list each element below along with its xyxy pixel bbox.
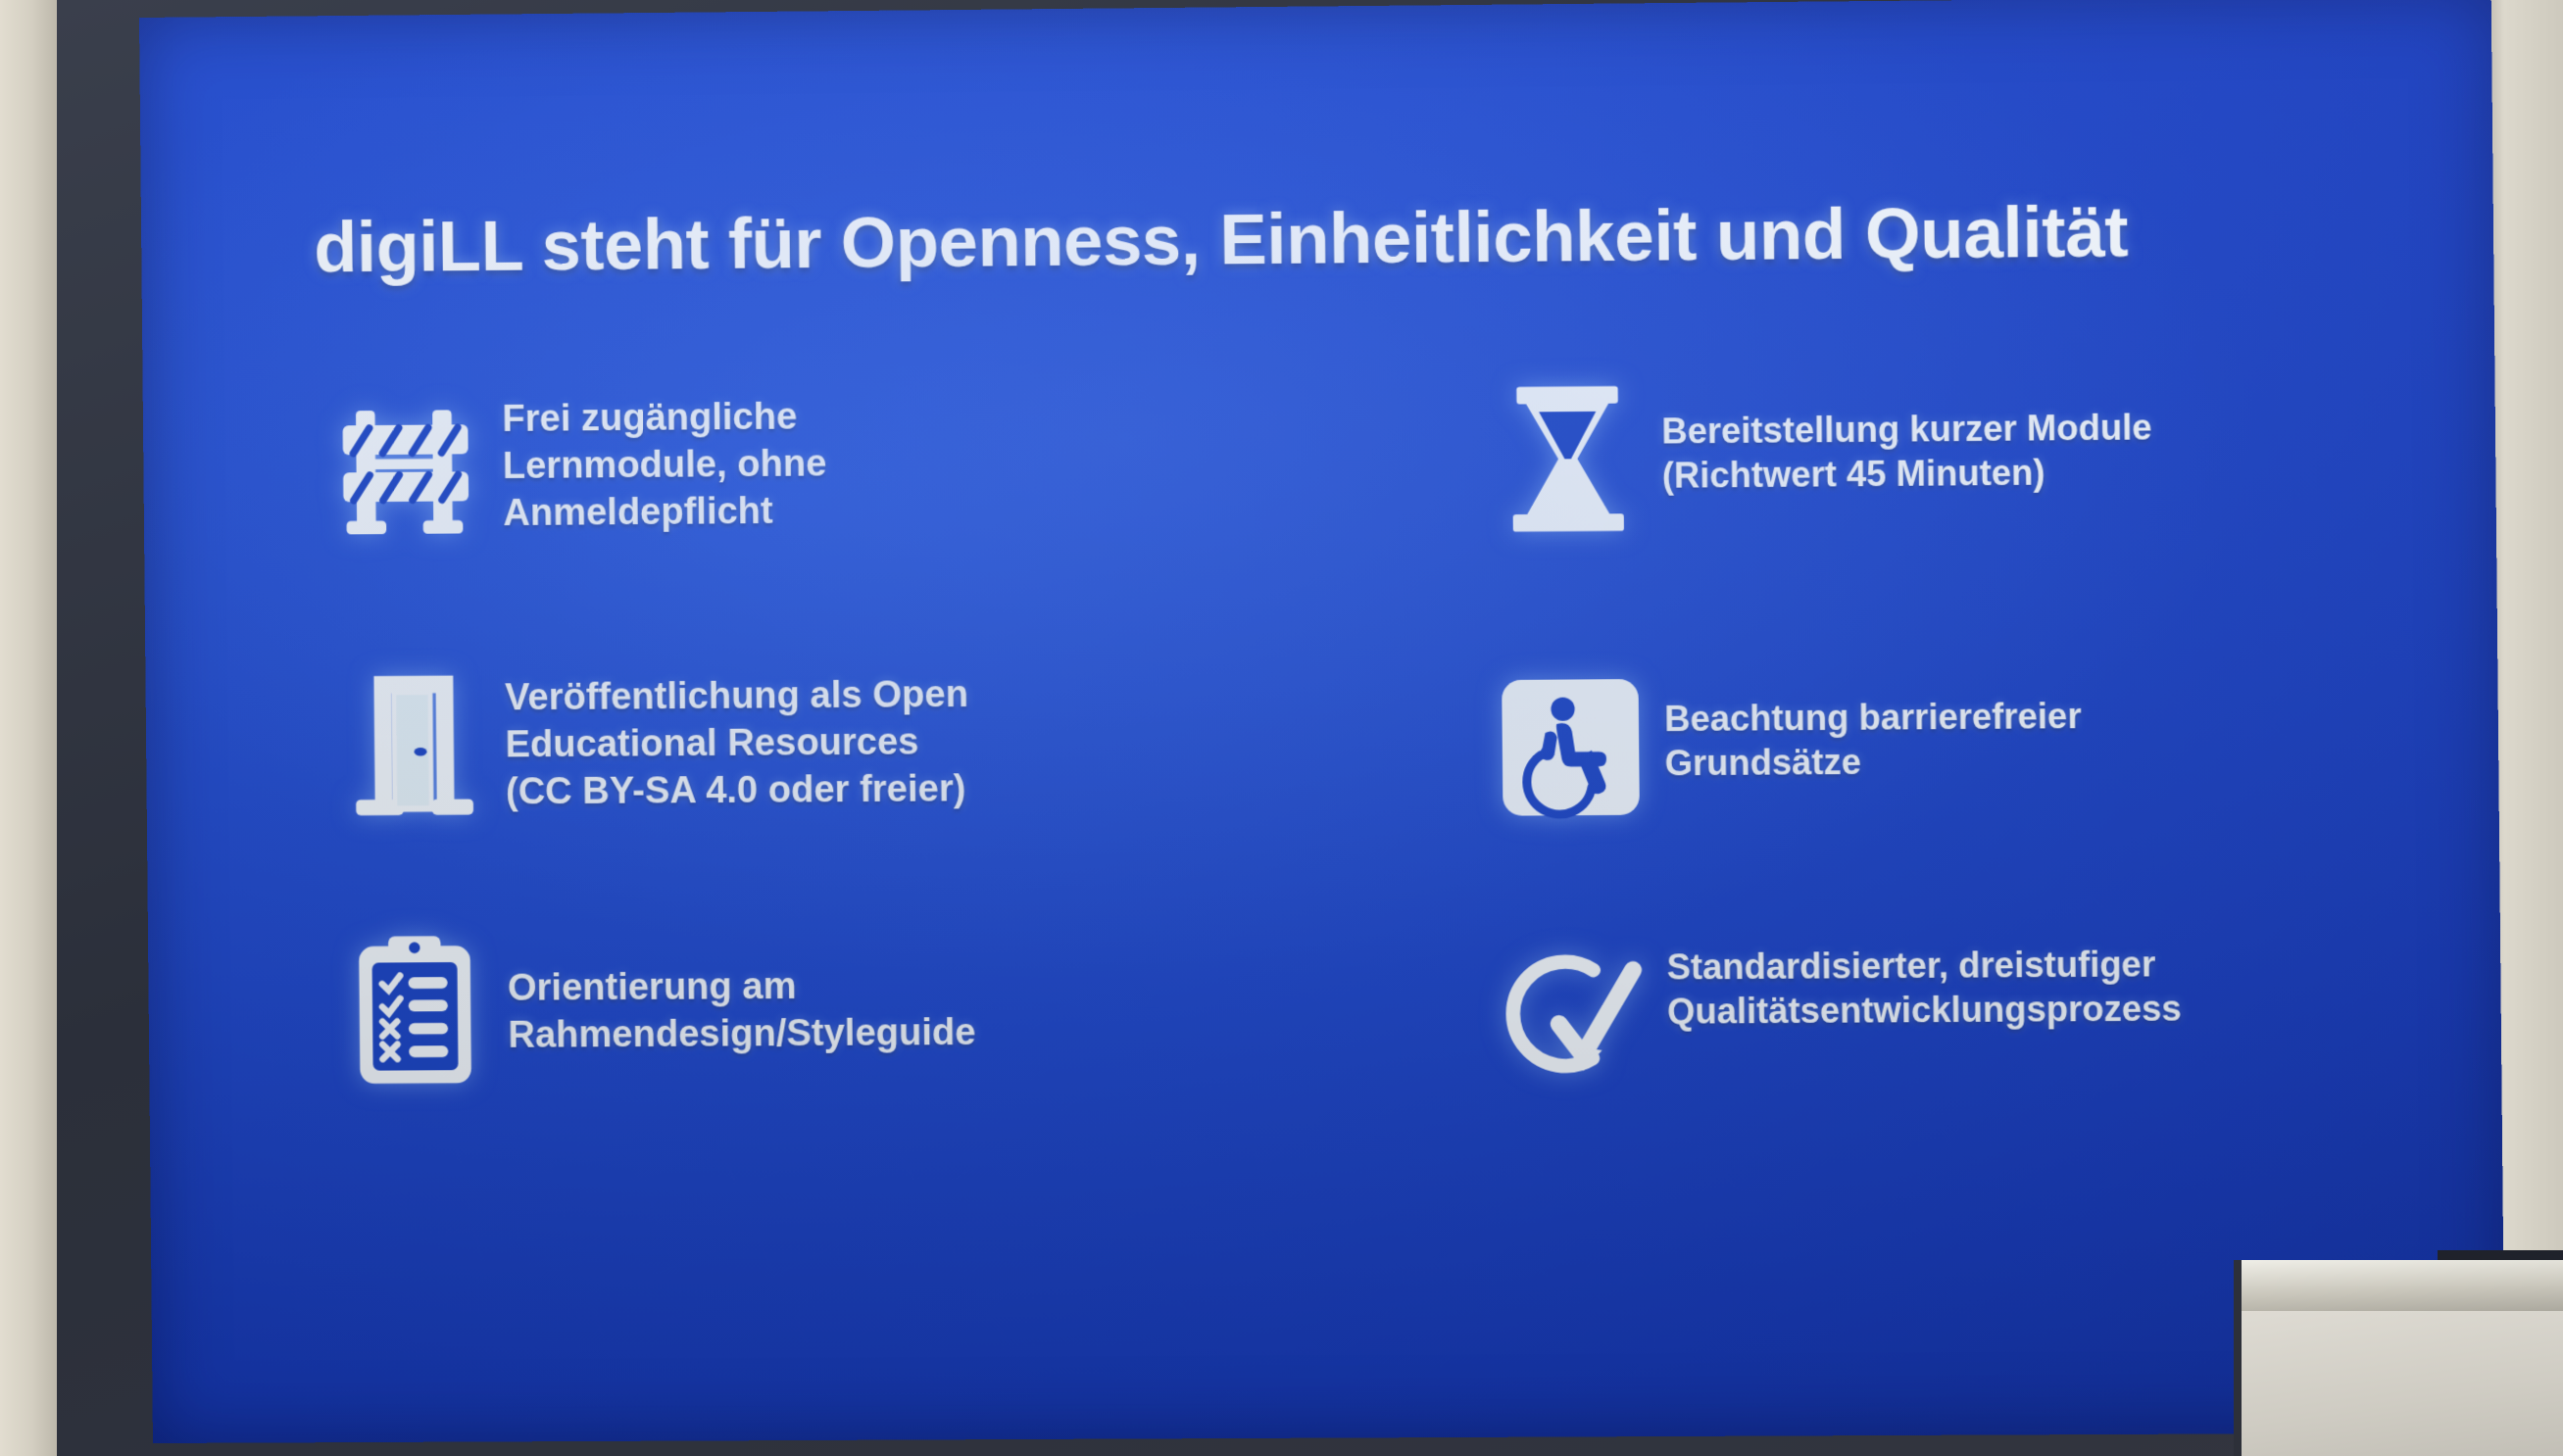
feature-line: Anmeldepflicht — [503, 488, 827, 538]
open-door-icon — [318, 659, 506, 838]
flipchart-top-rail — [2242, 1260, 2563, 1315]
feature-text: Veröffentlichung als Open Educational Re… — [505, 656, 969, 816]
feature-item: Veröffentlichung als Open Educational Re… — [318, 654, 1350, 928]
feature-text: Bereitstellung kurzer Module (Richtwert … — [1661, 375, 2152, 499]
feature-item: Frei zugängliche Lernmodule, ohne Anmeld… — [316, 382, 1348, 661]
room-background: digiLL steht für Openness, Einheitlichke… — [0, 0, 2563, 1456]
feature-grid: Frei zugängliche Lernmodule, ohne Anmeld… — [316, 373, 2390, 1175]
feature-item: Beachtung barrierefreier Grundsätze — [1347, 646, 2386, 921]
feature-line: Standardisierter, dreistufiger — [1666, 942, 2181, 990]
feature-line: Grundsätze — [1664, 739, 2082, 787]
feature-line: Educational Resources — [505, 719, 968, 769]
feature-line: Frei zugängliche — [502, 394, 826, 444]
wheelchair-accessibility-icon — [1476, 652, 1666, 830]
feature-line: Orientierung am — [508, 963, 976, 1013]
feature-line: Qualitätsentwicklungsprozess — [1667, 987, 2182, 1035]
feature-line: Lernmodule, ohne — [503, 441, 827, 491]
feature-line: Beachtung barrierefreier — [1664, 694, 2082, 742]
wall-left — [0, 0, 57, 1456]
feature-text: Standardisierter, dreistufiger Qualitäts… — [1666, 916, 2182, 1035]
feature-item: Bereitstellung kurzer Module (Richtwert … — [1345, 373, 2384, 654]
feature-text: Frei zugängliche Lernmodule, ohne Anmeld… — [502, 386, 827, 538]
foreground-flipchart — [2234, 1250, 2563, 1456]
clipboard-checklist-icon — [320, 927, 509, 1104]
projection-screen-bezel: digiLL steht für Openness, Einheitlichke… — [57, 0, 2473, 1456]
feature-line: (CC BY-SA 4.0 oder freier) — [506, 766, 969, 816]
feature-item: Orientierung am Rahmendesign/Styleguide — [320, 921, 1353, 1175]
flipchart-face — [2242, 1311, 2563, 1456]
feature-line: Bereitstellung kurzer Module — [1661, 405, 2152, 454]
feature-item: Standardisierter, dreistufiger Qualitäts… — [1350, 914, 2389, 1169]
feature-text: Orientierung am Rahmendesign/Styleguide — [507, 924, 975, 1060]
hourglass-icon — [1473, 379, 1663, 558]
road-barrier-icon — [316, 389, 504, 567]
feature-line: Veröffentlichung als Open — [505, 672, 968, 722]
cycle-checkmark-icon — [1478, 919, 1668, 1097]
presentation-slide: digiLL steht für Openness, Einheitlichke… — [139, 0, 2505, 1443]
slide-title: digiLL steht für Openness, Einheitlichke… — [314, 190, 2370, 289]
feature-text: Beachtung barrierefreier Grundsätze — [1664, 649, 2083, 787]
feature-line: Rahmendesign/Styleguide — [508, 1010, 976, 1060]
feature-line: (Richtwert 45 Minuten) — [1662, 450, 2153, 499]
